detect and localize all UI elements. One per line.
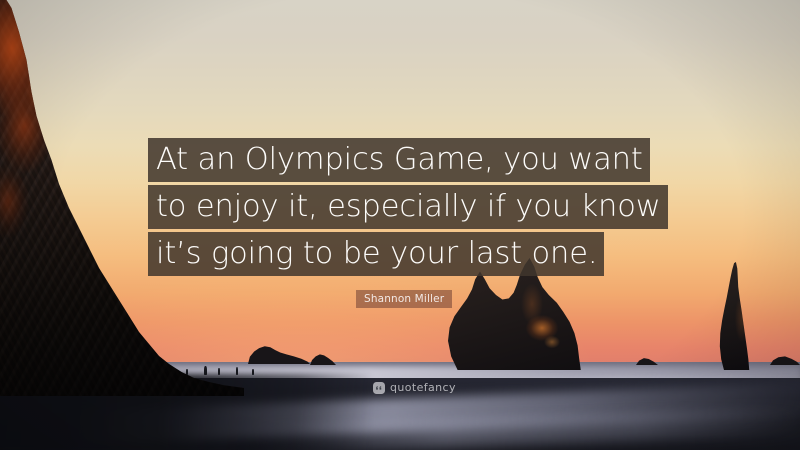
quote-mark-badge-icon bbox=[373, 382, 385, 394]
quote-line: to enjoy it, especially if you know bbox=[148, 185, 668, 229]
quote-line: it’s going to be your last one. bbox=[148, 232, 604, 276]
watermark[interactable]: quotefancy bbox=[373, 382, 456, 394]
quote-text: At an Olympics Game, you want to enjoy i… bbox=[148, 138, 668, 276]
watermark-brand: quotefancy bbox=[390, 382, 456, 394]
quote-author: Shannon Miller bbox=[356, 290, 452, 308]
beach-figure bbox=[218, 368, 220, 375]
quote-line: At an Olympics Game, you want bbox=[148, 138, 650, 182]
beach-figure bbox=[204, 366, 207, 375]
quote-poster: At an Olympics Game, you want to enjoy i… bbox=[0, 0, 800, 450]
beach-figure bbox=[236, 367, 238, 375]
